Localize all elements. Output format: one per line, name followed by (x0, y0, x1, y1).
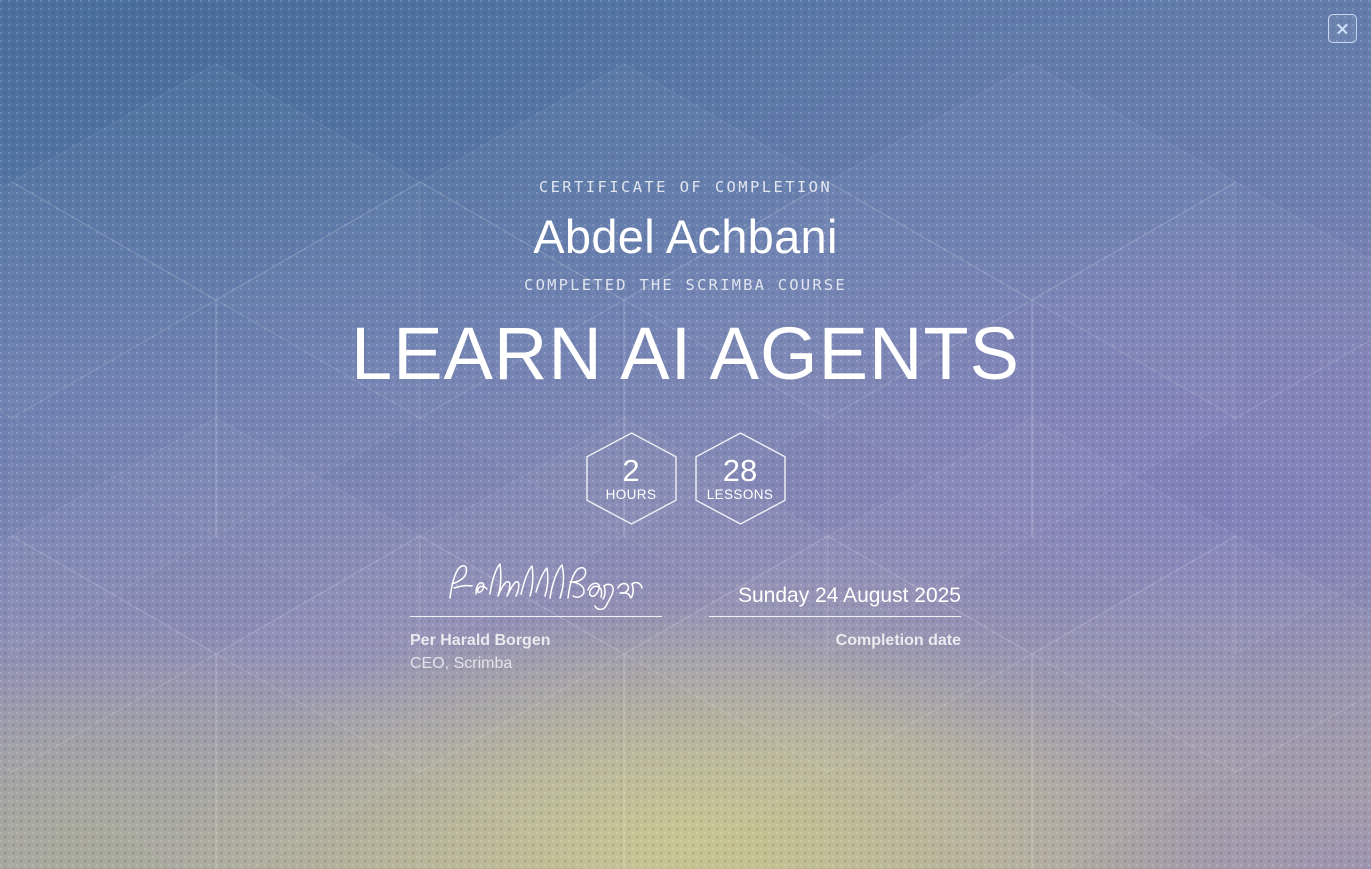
signatory-role: CEO, Scrimba (410, 652, 662, 675)
signature-rule (410, 616, 662, 617)
stat-label-lessons: LESSONS (707, 488, 774, 502)
signatory-name: Per Harald Borgen (410, 629, 662, 652)
recipient-name: Abdel Achbani (533, 212, 837, 262)
date-rule (709, 616, 961, 617)
certificate-subkicker: COMPLETED THE SCRIMBA COURSE (524, 276, 847, 294)
stats-row: 2 HOURS 28 LESSONS (584, 431, 788, 526)
completion-date-label: Completion date (709, 629, 961, 652)
signature-block: Per Harald Borgen CEO, Scrimba (410, 560, 662, 675)
stat-hexagon-hours: 2 HOURS (584, 431, 679, 526)
stat-label-hours: HOURS (606, 488, 657, 502)
certificate-overlay: CERTIFICATE OF COMPLETION Abdel Achbani … (0, 0, 1371, 869)
completion-block: Sunday 24 August 2025 Completion date (709, 560, 961, 675)
stat-value-hours: 2 (622, 455, 639, 486)
signature-image (410, 560, 662, 610)
certificate-content: CERTIFICATE OF COMPLETION Abdel Achbani … (0, 0, 1371, 869)
certificate-footer: Per Harald Borgen CEO, Scrimba Sunday 24… (410, 560, 961, 675)
completion-date-value: Sunday 24 August 2025 (709, 560, 961, 610)
course-title: LEARN AI AGENTS (351, 316, 1020, 393)
stat-value-lessons: 28 (723, 455, 757, 486)
stat-hexagon-lessons: 28 LESSONS (693, 431, 788, 526)
certificate-kicker: CERTIFICATE OF COMPLETION (539, 178, 832, 196)
